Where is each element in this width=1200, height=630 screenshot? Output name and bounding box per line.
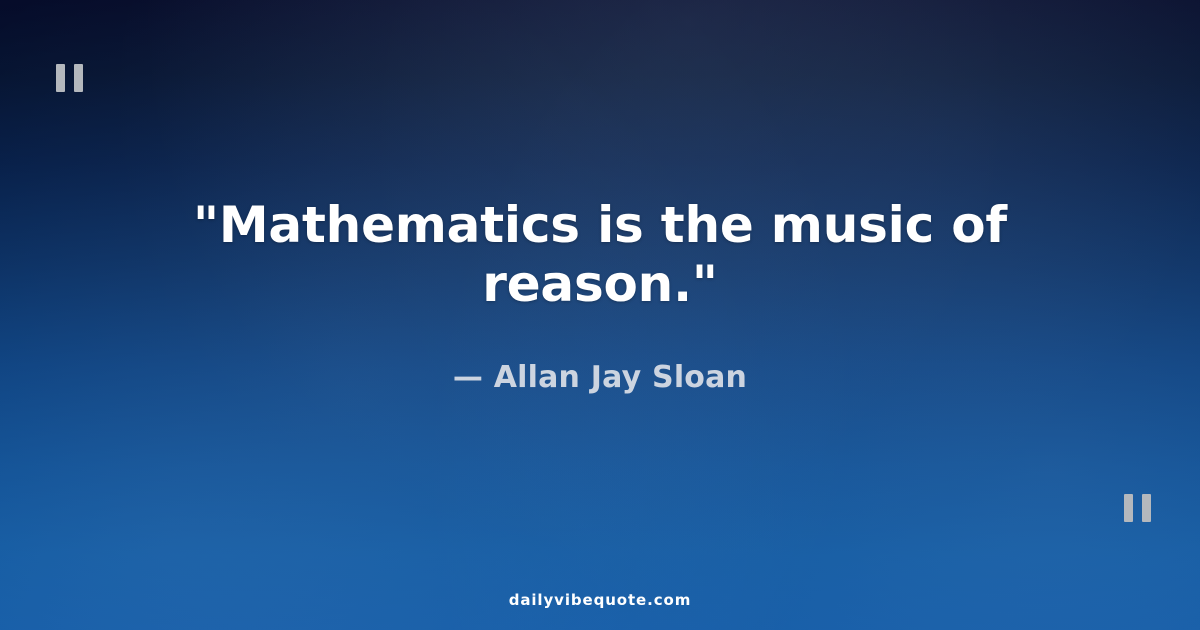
site-watermark: dailyvibequote.com <box>0 591 1200 609</box>
quote-author: — Allan Jay Sloan <box>453 360 747 395</box>
quote-text: "Mathematics is the music of reason." <box>70 196 1130 314</box>
quotation-mark-close-icon <box>1124 494 1151 522</box>
quotation-mark-bar-right <box>1142 494 1151 522</box>
quote-content: "Mathematics is the music of reason." — … <box>0 0 1200 630</box>
quotation-mark-bar-left <box>1124 494 1133 522</box>
quote-card: "Mathematics is the music of reason." — … <box>0 0 1200 630</box>
